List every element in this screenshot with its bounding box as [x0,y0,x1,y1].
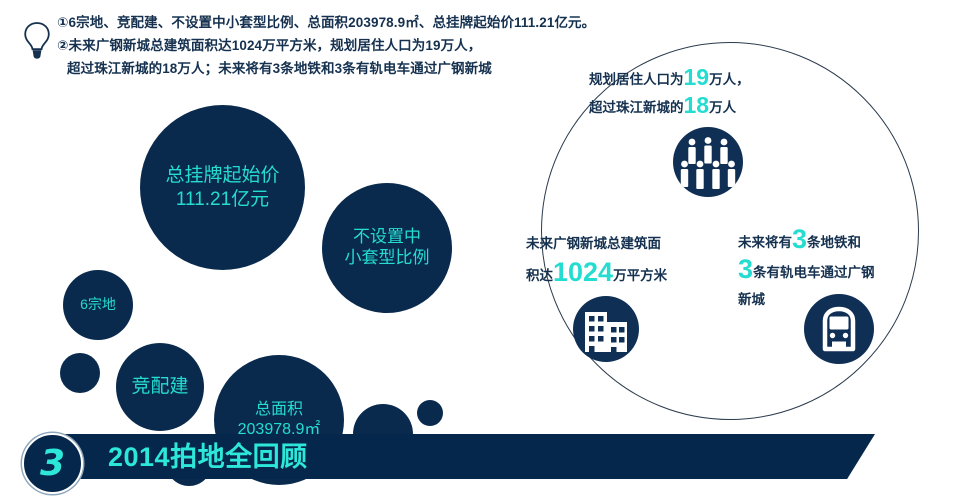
transit-line1-post: 条地铁和 [807,235,861,250]
bubble-dot-1 [60,353,100,393]
bubble-chart-cluster: 总挂牌起始价 111.21亿元不设置中 小套型比例6宗地竞配建总面积 20397… [0,95,510,395]
area-line1: 未来广钢新城总建筑面 [526,236,661,251]
buildings-icon [573,296,639,362]
population-line1-pre: 规划居住人口为 [589,72,684,87]
people-group-icon [673,127,743,197]
transit-text-line-1: 未来将有3条地铁和 [738,225,861,257]
top-note-lines: ①6宗地、竞配建、不设置中小套型比例、总面积203978.9㎡、总挂牌起始价11… [57,11,657,80]
bubble-buzhizhi: 不设置中 小套型比例 [322,183,452,313]
bubble-6zongdi: 6宗地 [63,270,133,340]
bubble-jingpeijian: 竞配建 [116,343,204,431]
population-count-19: 19 [684,64,710,90]
area-line2-pre: 积达 [526,268,553,283]
population-line2-post: 万人 [709,100,736,115]
transit-line1-pre: 未来将有 [738,235,792,250]
lightbulb-icon [22,20,52,62]
area-text-line-2: 积达1024万平方米 [526,258,667,290]
bubble-zongguapai: 总挂牌起始价 111.21亿元 [140,105,305,270]
area-value-1024: 1024 [553,257,613,287]
bubble-dot-4 [417,400,443,426]
area-text-line-1: 未来广钢新城总建筑面 [526,230,661,258]
transit-metro-count: 3 [792,224,807,254]
area-line2-post: 万平方米 [613,268,667,283]
transit-line2-post: 条有轨电车通过广钢 [753,265,875,280]
bubble-buzhizhi-label: 不设置中 小套型比例 [345,227,430,268]
transit-text-line-2: 3条有轨电车通过广钢 [738,255,875,287]
info-circle: 规划居住人口为19万人， 超过珠江新城的18万人 未来广钢新城总建筑面 积达10… [541,42,919,420]
population-text-line-2: 超过珠江新城的18万人 [589,91,736,122]
bubble-6zongdi-label: 6宗地 [80,296,116,313]
metro-train-icon [804,294,874,364]
note-line-1: ①6宗地、竞配建、不设置中小套型比例、总面积203978.9㎡、总挂牌起始价11… [57,11,657,34]
population-line1-post: 万人， [709,72,750,87]
population-text-line-1: 规划居住人口为19万人， [589,63,750,94]
transit-tram-count: 3 [738,254,753,284]
bottom-banner: 3 2014拍地全回顾 [0,424,980,500]
banner-title: 2014拍地全回顾 [108,441,308,473]
bubble-jingpeijian-label: 竞配建 [131,375,188,398]
step-number: 3 [24,435,81,492]
note-line-3: 超过珠江新城的18万人；未来将有3条地铁和3条有轨电车通过广钢新城 [57,57,657,80]
bubble-zongguapai-label: 总挂牌起始价 111.21亿元 [165,164,279,210]
note-line-2: ②未来广钢新城总建筑面积达1024万平方米，规划居住人口为19万人， [57,34,657,57]
transit-text-line-3: 新城 [738,286,765,314]
population-count-18: 18 [684,92,710,118]
step-badge: 3 [22,433,83,494]
population-line2-pre: 超过珠江新城的 [589,100,684,115]
transit-line3: 新城 [738,292,765,307]
